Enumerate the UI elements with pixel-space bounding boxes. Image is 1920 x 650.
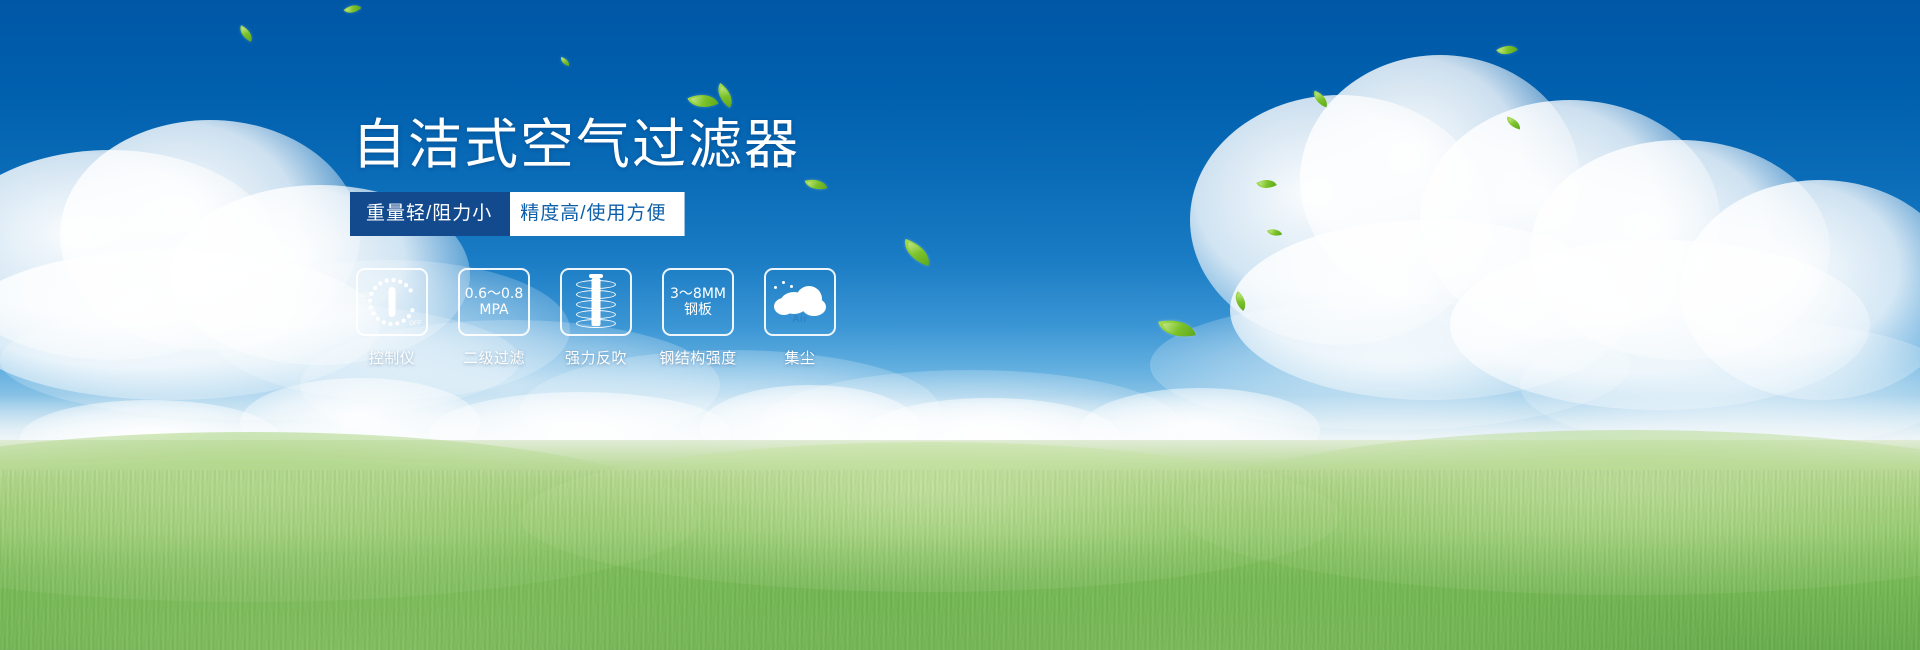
dust-air-label: Air [772,314,828,325]
tag-primary: 重量轻/阻力小 [350,192,510,236]
feature-list: NO OFF 控制仪 0.6～0.8 MPA 二级过滤 [356,268,836,368]
feature-item-dust: Air 集尘 [764,268,836,368]
dial-on-label: NO [361,293,371,299]
dust-cloud-icon: Air [772,280,828,324]
dial-off-label: OFF [409,321,422,327]
feature-icon-box: 0.6～0.8 MPA [458,268,530,336]
feature-label: 二级过滤 [463,347,525,368]
page-title: 自洁式空气过滤器 [352,114,800,176]
steel-plate-text-icon: 3～8MM 钢板 [670,286,726,318]
feature-label: 控制仪 [369,347,416,368]
pressure-text-icon: 0.6～0.8 MPA [465,286,524,318]
feature-icon-box [560,268,632,336]
feature-label: 集尘 [784,347,815,368]
feature-item-backblow: 强力反吹 [560,268,632,368]
feature-label: 强力反吹 [565,347,627,368]
feature-item-controller: NO OFF 控制仪 [356,268,428,368]
feature-item-pressure: 0.6～0.8 MPA 二级过滤 [458,268,530,368]
feature-label: 钢结构强度 [659,347,737,368]
power-dial-icon: NO OFF [363,275,421,329]
feature-icon-box: NO OFF [356,268,428,336]
tag-secondary: 精度高/使用方便 [494,192,684,236]
filter-cartridge-icon [573,276,619,328]
feature-icon-box: Air [764,268,836,336]
feature-icon-box: 3～8MM 钢板 [662,268,734,336]
feature-item-steel: 3～8MM 钢板 钢结构强度 [662,268,734,368]
tag-row: 重量轻/阻力小 精度高/使用方便 [350,192,685,236]
banner-content: 自洁式空气过滤器 重量轻/阻力小 精度高/使用方便 [0,0,1920,650]
dial-indicator-bar [389,287,396,317]
product-hero-banner: 自洁式空气过滤器 重量轻/阻力小 精度高/使用方便 [0,0,1920,650]
